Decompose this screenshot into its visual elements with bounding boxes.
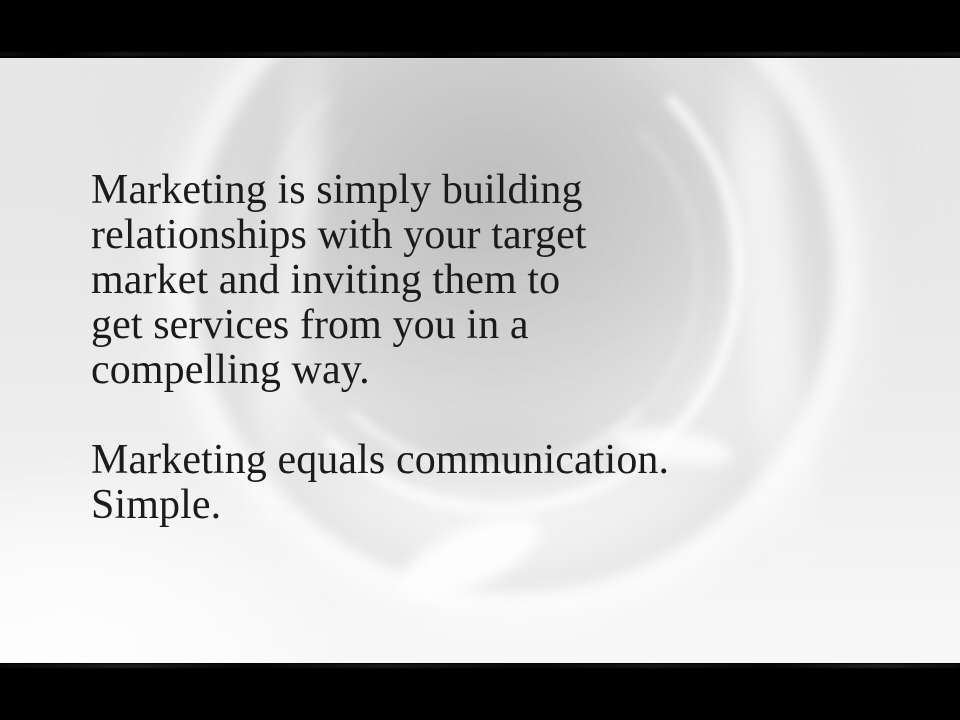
quote-line: get services from you in a bbox=[91, 303, 891, 348]
slide-content-area: Marketing is simply building relationshi… bbox=[0, 58, 960, 663]
quote-line: Marketing equals communication. bbox=[91, 438, 891, 483]
quote-line: relationships with your target bbox=[91, 213, 891, 258]
quote-line: Simple. bbox=[91, 483, 891, 528]
top-letterbox-bar bbox=[0, 0, 960, 58]
quote-paragraph-1: Marketing is simply building relationshi… bbox=[91, 168, 891, 393]
quote-line: compelling way. bbox=[91, 348, 891, 393]
video-frame: Marketing is simply building relationshi… bbox=[0, 0, 960, 720]
quote-text-block: Marketing is simply building relationshi… bbox=[91, 168, 891, 528]
quote-paragraph-2: Marketing equals communication. Simple. bbox=[91, 438, 891, 528]
bottom-letterbox-bar bbox=[0, 663, 960, 720]
quote-line: market and inviting them to bbox=[91, 258, 891, 303]
quote-line: Marketing is simply building bbox=[91, 168, 891, 213]
